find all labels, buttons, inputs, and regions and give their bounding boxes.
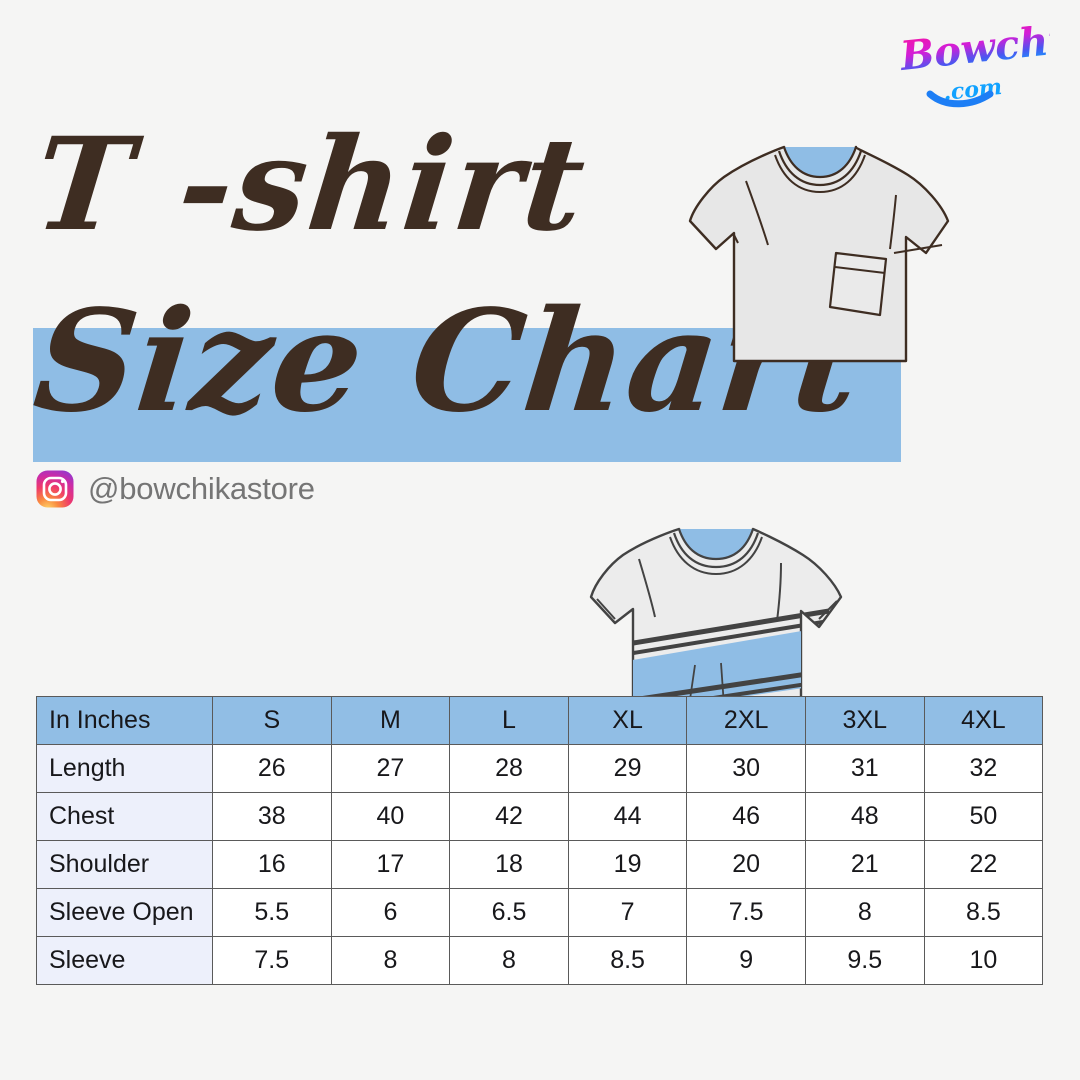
table-row: Length 26 27 28 29 30 31 32 bbox=[37, 745, 1043, 793]
table-row: Shoulder 16 17 18 19 20 21 22 bbox=[37, 841, 1043, 889]
cell-value: 8 bbox=[331, 937, 450, 985]
cell-value: 32 bbox=[924, 745, 1043, 793]
size-chart-poster: Bowchika .com T -shirt Size Chart bbox=[0, 0, 1080, 1080]
cell-value: 44 bbox=[568, 793, 687, 841]
bowchika-logo: Bowchika .com bbox=[898, 26, 1050, 108]
cell-value: 29 bbox=[568, 745, 687, 793]
cell-value: 31 bbox=[805, 745, 924, 793]
size-header-2xl: 2XL bbox=[687, 697, 806, 745]
size-header-3xl: 3XL bbox=[805, 697, 924, 745]
cell-value: 50 bbox=[924, 793, 1043, 841]
size-chart-table: In Inches S M L XL 2XL 3XL 4XL Length 26… bbox=[36, 696, 1043, 985]
cell-value: 9.5 bbox=[805, 937, 924, 985]
size-header-l: L bbox=[450, 697, 569, 745]
cell-value: 42 bbox=[450, 793, 569, 841]
cell-value: 8.5 bbox=[924, 889, 1043, 937]
cell-value: 26 bbox=[213, 745, 332, 793]
cell-value: 6 bbox=[331, 889, 450, 937]
size-header-s: S bbox=[213, 697, 332, 745]
cell-value: 5.5 bbox=[213, 889, 332, 937]
measurement-label: Sleeve bbox=[37, 937, 213, 985]
cell-value: 16 bbox=[213, 841, 332, 889]
cell-value: 28 bbox=[450, 745, 569, 793]
measurement-label: Sleeve Open bbox=[37, 889, 213, 937]
size-header-xl: XL bbox=[568, 697, 687, 745]
cell-value: 30 bbox=[687, 745, 806, 793]
plain-tshirt-illustration bbox=[680, 125, 960, 375]
table-row: Sleeve 7.5 8 8 8.5 9 9.5 10 bbox=[37, 937, 1043, 985]
instagram-icon bbox=[36, 470, 74, 508]
cell-value: 19 bbox=[568, 841, 687, 889]
svg-text:Bowchika: Bowchika bbox=[898, 26, 1050, 80]
cell-value: 48 bbox=[805, 793, 924, 841]
unit-label-header: In Inches bbox=[37, 697, 213, 745]
cell-value: 7.5 bbox=[687, 889, 806, 937]
title-line-1: T -shirt bbox=[28, 110, 593, 260]
table-header-row: In Inches S M L XL 2XL 3XL 4XL bbox=[37, 697, 1043, 745]
cell-value: 9 bbox=[687, 937, 806, 985]
measurement-label: Shoulder bbox=[37, 841, 213, 889]
cell-value: 7.5 bbox=[213, 937, 332, 985]
striped-tshirt-illustration bbox=[575, 515, 860, 710]
cell-value: 8 bbox=[805, 889, 924, 937]
cell-value: 18 bbox=[450, 841, 569, 889]
table-row: Sleeve Open 5.5 6 6.5 7 7.5 8 8.5 bbox=[37, 889, 1043, 937]
cell-value: 7 bbox=[568, 889, 687, 937]
cell-value: 27 bbox=[331, 745, 450, 793]
cell-value: 6.5 bbox=[450, 889, 569, 937]
cell-value: 8.5 bbox=[568, 937, 687, 985]
measurement-label: Length bbox=[37, 745, 213, 793]
measurement-label: Chest bbox=[37, 793, 213, 841]
cell-value: 8 bbox=[450, 937, 569, 985]
cell-value: 22 bbox=[924, 841, 1043, 889]
table-row: Chest 38 40 42 44 46 48 50 bbox=[37, 793, 1043, 841]
cell-value: 17 bbox=[331, 841, 450, 889]
instagram-handle-row[interactable]: @bowchikastore bbox=[36, 470, 315, 508]
cell-value: 46 bbox=[687, 793, 806, 841]
cell-value: 40 bbox=[331, 793, 450, 841]
cell-value: 20 bbox=[687, 841, 806, 889]
cell-value: 38 bbox=[213, 793, 332, 841]
size-header-m: M bbox=[331, 697, 450, 745]
cell-value: 21 bbox=[805, 841, 924, 889]
cell-value: 10 bbox=[924, 937, 1043, 985]
instagram-handle-text: @bowchikastore bbox=[88, 471, 315, 507]
size-header-4xl: 4XL bbox=[924, 697, 1043, 745]
